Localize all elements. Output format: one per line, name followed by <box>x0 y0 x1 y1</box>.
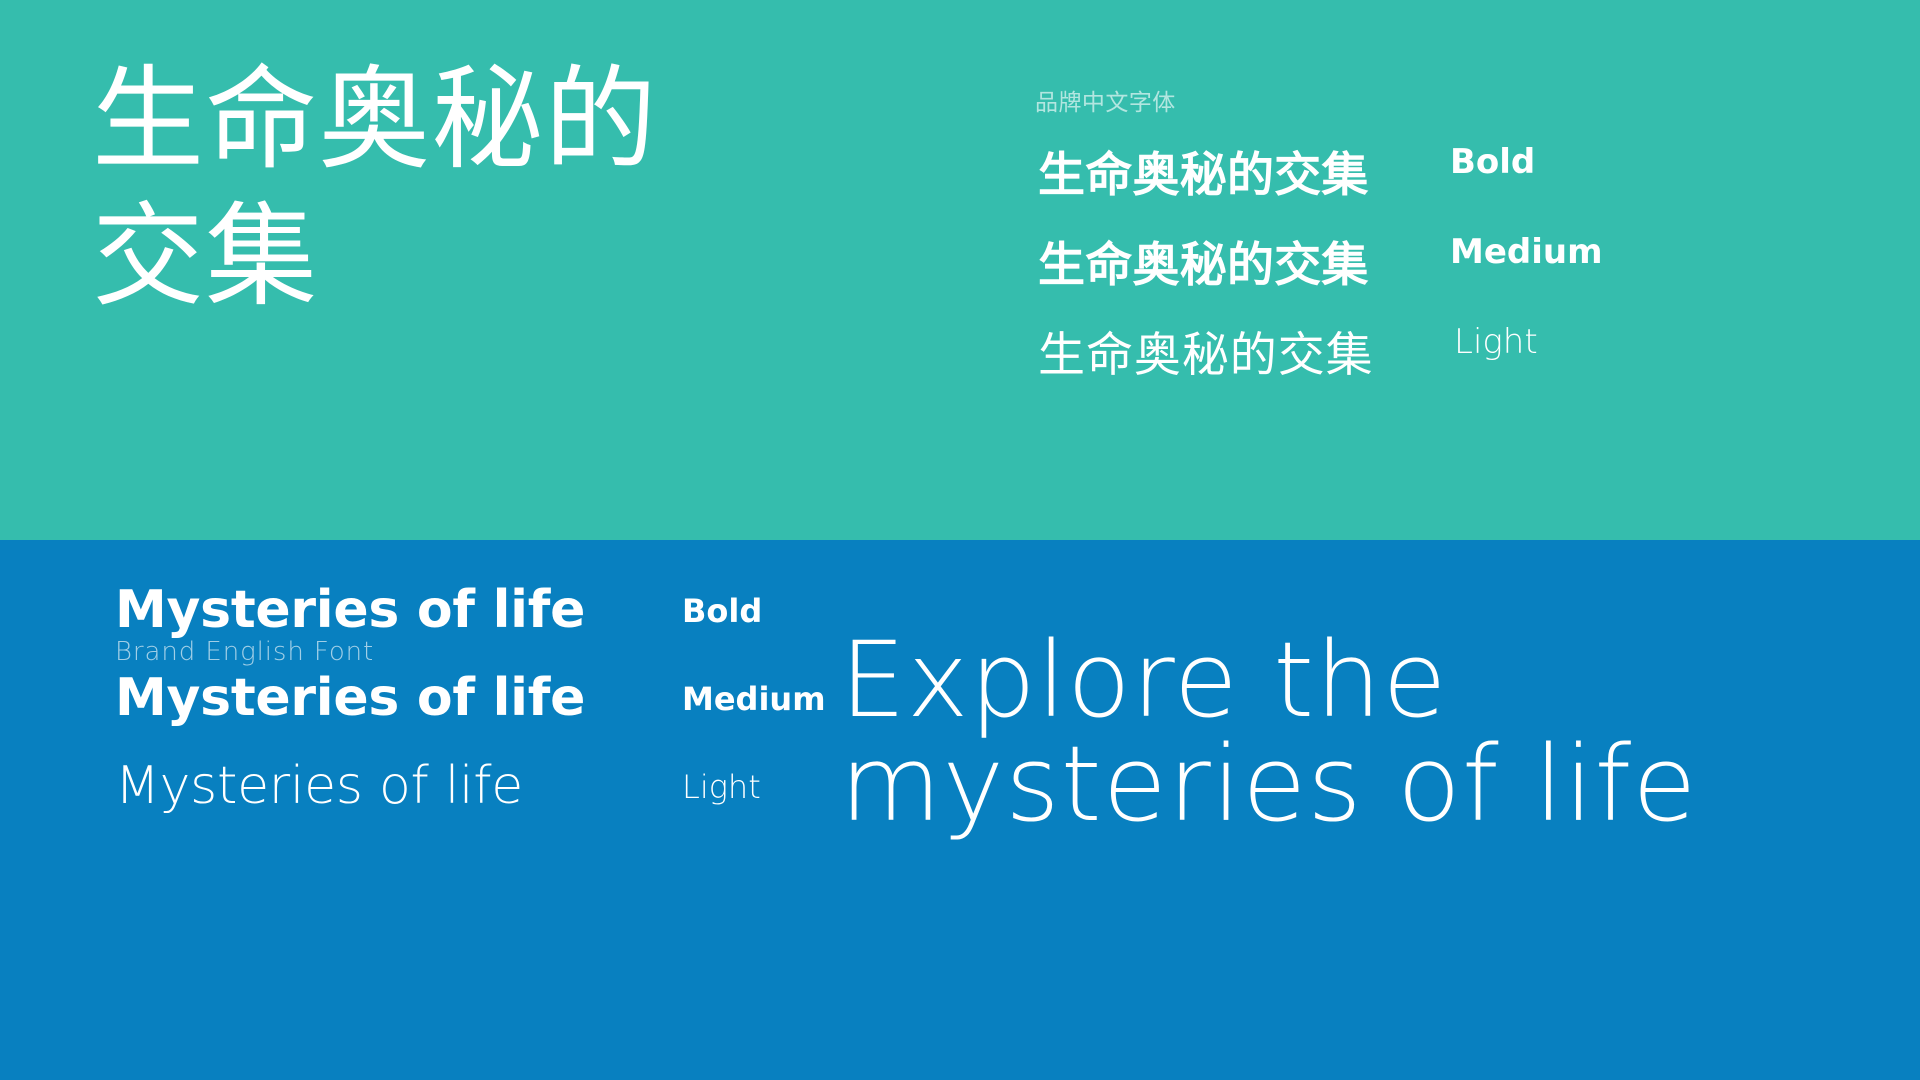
chinese-specimen-sample-medium: 生命奥秘的交集 <box>1038 226 1369 295</box>
english-section-label: Brand English Font <box>115 637 374 667</box>
typography-board: 生命奥秘的 交集 品牌中文字体 生命奥秘的交集 Bold 生命奥秘的交集 Med… <box>0 0 1920 1080</box>
chinese-specimen-weight-bold: Bold <box>1450 142 1535 182</box>
english-specimen-sample-bold: Mysteries of life <box>115 580 585 640</box>
english-specimen-weight-medium: Medium <box>682 680 826 718</box>
english-specimen-sample-light: Mysteries of life <box>115 756 523 816</box>
english-hero-headline: Explore the mysteries of life <box>840 628 1900 836</box>
chinese-hero-headline: 生命奥秘的 交集 <box>92 52 712 325</box>
english-font-panel: Brand English Font Mysteries of life Bol… <box>0 540 1920 1080</box>
chinese-specimen-weight-light: Light <box>1454 322 1538 362</box>
chinese-font-panel: 生命奥秘的 交集 品牌中文字体 生命奥秘的交集 Bold 生命奥秘的交集 Med… <box>0 0 1920 540</box>
chinese-section-label: 品牌中文字体 <box>1035 83 1176 117</box>
chinese-specimen-weight-medium: Medium <box>1450 232 1603 272</box>
english-specimen-weight-light: Light <box>682 768 761 806</box>
chinese-specimen-sample-bold: 生命奥秘的交集 <box>1038 136 1369 205</box>
english-specimen-weight-bold: Bold <box>682 592 762 630</box>
chinese-specimen-sample-light: 生命奥秘的交集 <box>1038 316 1374 385</box>
english-specimen-sample-medium: Mysteries of life <box>115 668 585 728</box>
